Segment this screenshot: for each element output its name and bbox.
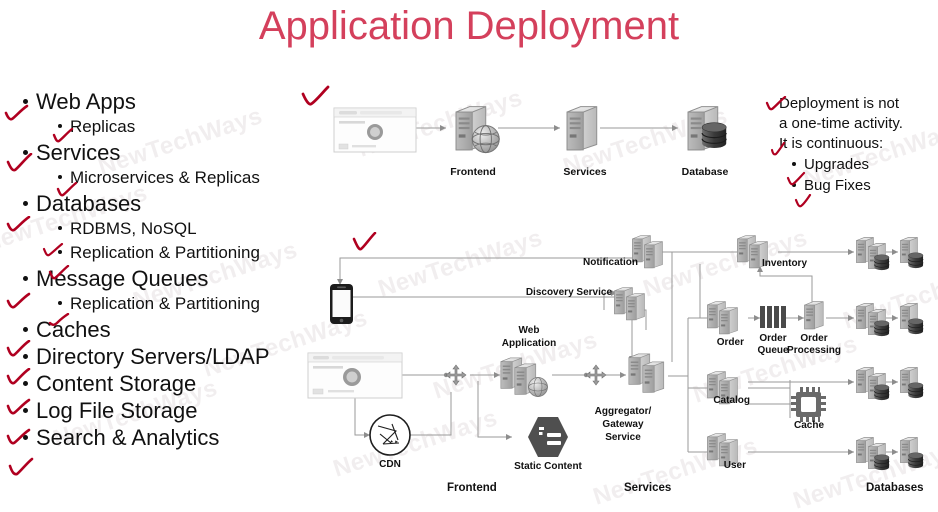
bullet-dot (58, 124, 62, 128)
list-item-label: Replication & Partitioning (70, 241, 260, 265)
web-application-icon (501, 358, 548, 397)
database-cluster (856, 238, 923, 471)
browser-window-icon (308, 353, 402, 398)
list-item-label: Replicas (70, 115, 135, 139)
list-item-label: Services (36, 139, 120, 166)
node-label-order: Order (698, 337, 744, 349)
bullet-dot (23, 435, 28, 440)
note-sub-label: Upgrades (804, 156, 869, 173)
aggregator-gateway-icon (629, 354, 664, 392)
smartphone-icon (330, 284, 353, 324)
bullet-dot (23, 408, 28, 413)
bullet-dot (23, 381, 28, 386)
section-label-frontend: Frontend (447, 482, 497, 494)
bullet-dot (58, 301, 62, 305)
bullet-dot (792, 162, 796, 166)
list-item: Message Queues (6, 265, 318, 292)
node-label-web-application-line1: Web (490, 325, 568, 337)
bullet-dot (23, 201, 28, 206)
discovery-service-icon (614, 288, 644, 320)
note-line-3: It is continuous: (770, 134, 938, 154)
bullet-dot (58, 250, 62, 254)
bullet-dot (23, 327, 28, 332)
node-label-database: Database (650, 166, 760, 178)
node-label-static-content: Static Content (498, 461, 598, 473)
list-item-label: Log File Storage (36, 397, 197, 424)
note-sub-item: Bug Fixes (770, 175, 938, 196)
page-title: Application Deployment (0, 4, 938, 49)
node-label-catalog: Catalog (694, 395, 750, 407)
load-balancer-icon (586, 365, 606, 385)
note-line-1: Deployment is not (770, 94, 938, 114)
list-item: Replicas (6, 115, 318, 139)
list-item: Databases (6, 190, 318, 217)
list-item: Replication & Partitioning (6, 241, 318, 265)
list-item-label: Directory Servers/LDAP (36, 343, 270, 370)
node-label-cdn: CDN (360, 459, 420, 471)
list-item-label: Search & Analytics (36, 424, 219, 451)
bullet-dot (792, 183, 796, 187)
list-item-label: Content Storage (36, 370, 196, 397)
list-item-label: Replication & Partitioning (70, 292, 260, 316)
left-bullet-list: Web Apps Replicas Services Microservices… (6, 88, 318, 451)
list-item-label: Web Apps (36, 88, 136, 115)
list-item: Microservices & Replicas (6, 166, 318, 190)
node-label-discovery-service: Discovery Service (508, 287, 612, 299)
bullet-dot (23, 99, 28, 104)
browser-window-icon (334, 108, 416, 152)
order-processing-icon (805, 302, 824, 329)
node-label-frontend: Frontend (418, 166, 528, 178)
list-item: Log File Storage (6, 397, 318, 424)
bullet-dot (58, 175, 62, 179)
note-sub-label: Bug Fixes (804, 177, 871, 194)
node-label-aggregator-line1: Aggregator/ (578, 406, 668, 418)
list-item-label: Microservices & Replicas (70, 166, 260, 190)
note-line-2: a one-time activity. (770, 114, 938, 134)
bullet-dot (23, 276, 28, 281)
list-item: Directory Servers/LDAP (6, 343, 318, 370)
list-item: Content Storage (6, 370, 318, 397)
list-item-label: Databases (36, 190, 141, 217)
cdn-icon (370, 415, 410, 455)
order-queue-icon (760, 306, 786, 328)
list-item: Replication & Partitioning (6, 292, 318, 316)
node-label-inventory: Inventory (762, 258, 822, 270)
node-label-aggregator-line2: Gateway (578, 419, 668, 431)
node-label-services: Services (530, 166, 640, 178)
note-sub-item: Upgrades (770, 154, 938, 175)
server-icon (567, 107, 597, 150)
right-note-block: Deployment is not a one-time activity. I… (770, 94, 938, 196)
list-item: RDBMS, NoSQL (6, 217, 318, 241)
node-label-cache: Cache (787, 420, 831, 432)
bullet-dot (23, 150, 28, 155)
section-label-databases: Databases (866, 482, 924, 494)
node-label-order-processing-line1: Order (786, 333, 842, 345)
node-label-aggregator-line3: Service (578, 432, 668, 444)
list-item: Caches (6, 316, 318, 343)
bullet-dot (23, 354, 28, 359)
list-item-label: Caches (36, 316, 111, 343)
slide-canvas: Application Deployment Web Apps Replicas… (0, 0, 938, 512)
order-service-icon (707, 302, 737, 334)
list-item: Search & Analytics (6, 424, 318, 451)
cache-chip-icon (791, 387, 826, 422)
server-database-icon (688, 107, 726, 150)
bullet-dot (58, 226, 62, 230)
node-label-web-application-line2: Application (484, 338, 574, 350)
list-item-label: Message Queues (36, 265, 208, 292)
section-label-services: Services (624, 482, 671, 494)
list-item: Web Apps (6, 88, 318, 115)
node-label-order-processing-line2: Processing (778, 345, 850, 357)
list-item-label: RDBMS, NoSQL (70, 217, 197, 241)
list-item: Services (6, 139, 318, 166)
node-label-notification: Notification (558, 257, 638, 269)
load-balancer-icon (446, 365, 466, 385)
node-label-user: User (700, 460, 746, 472)
static-content-icon (528, 417, 568, 457)
server-globe-icon (456, 107, 499, 153)
